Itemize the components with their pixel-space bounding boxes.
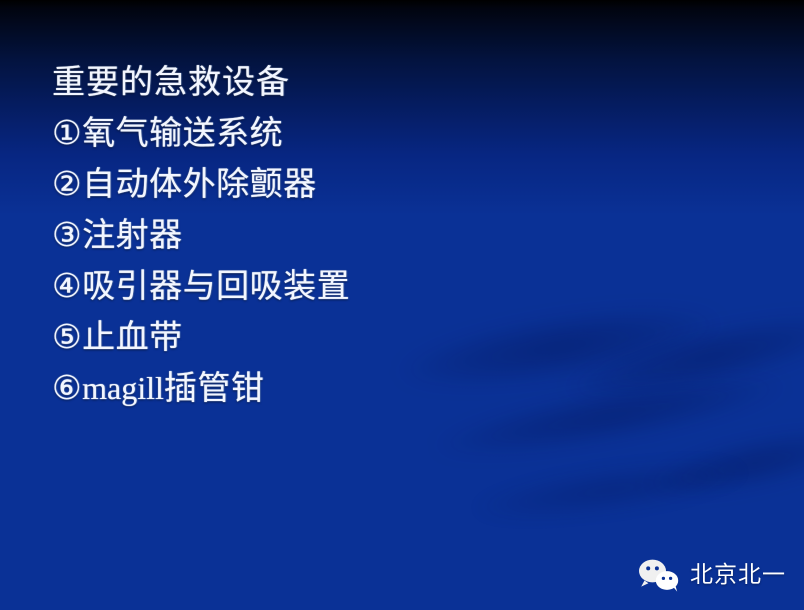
list-item-label: 氧气输送系统: [82, 113, 283, 152]
list-marker: ④: [52, 266, 82, 305]
list-item: ⑥magill插管钳: [52, 362, 752, 414]
list-item: ③注射器: [52, 209, 752, 260]
list-item: ⑤止血带: [52, 311, 752, 362]
slide-text-block: 重要的急救设备 ①氧气输送系统 ②自动体外除颤器 ③注射器 ④吸引器与回吸装置 …: [52, 56, 752, 414]
list-item: ④吸引器与回吸装置: [52, 260, 752, 311]
list-item-label: 自动体外除颤器: [82, 164, 317, 203]
list-item-label: 注射器: [82, 215, 183, 254]
list-marker: ⑤: [52, 317, 82, 356]
list-marker: ①: [52, 113, 82, 152]
watermark: 北京北一: [637, 558, 786, 592]
list-item-label: 吸引器与回吸装置: [82, 266, 350, 305]
list-item: ②自动体外除颤器: [52, 158, 752, 209]
list-item: ①氧气输送系统: [52, 107, 752, 158]
list-marker: ③: [52, 215, 82, 254]
list-item-latin-label: magill: [82, 370, 164, 406]
wechat-icon: [637, 558, 681, 592]
decorative-swoosh: [469, 451, 752, 530]
slide-title: 重要的急救设备: [52, 56, 752, 107]
list-marker: ⑥: [52, 368, 82, 407]
decorative-swoosh: [638, 417, 804, 510]
list-marker: ②: [52, 164, 82, 203]
list-item-label: 插管钳: [164, 368, 265, 407]
slide-canvas: 重要的急救设备 ①氧气输送系统 ②自动体外除颤器 ③注射器 ④吸引器与回吸装置 …: [0, 0, 804, 610]
list-item-label: 止血带: [82, 317, 183, 356]
watermark-label: 北京北一: [690, 564, 786, 587]
